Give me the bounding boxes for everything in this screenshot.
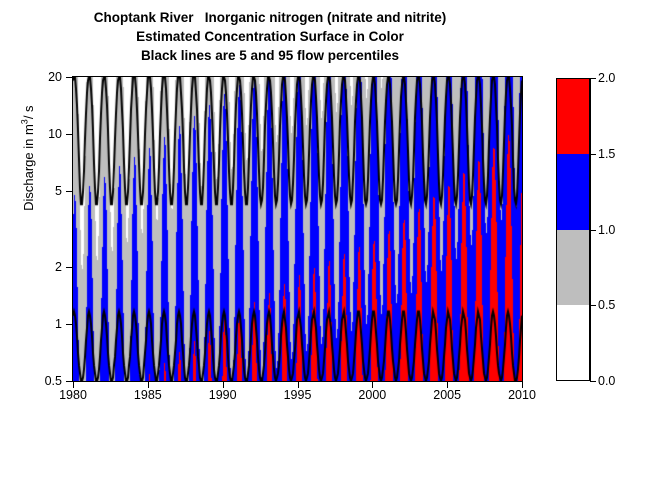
chart-title-line-3: Black lines are 5 and 95 flow percentile… xyxy=(0,46,540,65)
surface-canvas xyxy=(73,77,522,381)
color-legend-tick-mark xyxy=(590,78,596,79)
color-legend xyxy=(556,78,590,381)
x-tick-label: 2000 xyxy=(358,388,386,402)
y-tick-label: 0.5 xyxy=(45,374,62,388)
color-legend-band xyxy=(557,154,589,229)
color-legend-tick-mark xyxy=(590,230,596,231)
y-tick-label: 1 xyxy=(55,317,62,331)
color-legend-tick-label: 2.0 xyxy=(598,71,615,85)
color-legend-tick-label: 0.0 xyxy=(598,374,615,388)
color-legend-tick-label: 1.0 xyxy=(598,223,615,237)
color-legend-tick-mark xyxy=(590,305,596,306)
x-tick-label: 1985 xyxy=(134,388,162,402)
y-tick-label: 2 xyxy=(55,260,62,274)
x-tick-label: 1980 xyxy=(59,388,87,402)
y-axis-label-tail: / s xyxy=(21,105,36,119)
color-legend-tick-label: 0.5 xyxy=(598,298,615,312)
y-tick-label: 20 xyxy=(48,70,62,84)
chart-page: Choptank River Inorganic nitrogen (nitra… xyxy=(0,0,672,480)
color-legend-band xyxy=(557,305,589,380)
color-legend-tick-mark xyxy=(590,381,596,382)
chart-title-block: Choptank River Inorganic nitrogen (nitra… xyxy=(0,8,540,65)
color-legend-band xyxy=(557,230,589,305)
y-tick-label: 10 xyxy=(48,127,62,141)
x-tick-label: 1995 xyxy=(284,388,312,402)
y-axis-label: Discharge in m3/ s xyxy=(20,105,36,210)
color-legend-tick-label: 1.5 xyxy=(598,147,615,161)
color-legend-tick-mark xyxy=(590,154,596,155)
color-legend-band xyxy=(557,79,589,154)
x-tick-label: 1990 xyxy=(209,388,237,402)
chart-title-line-1: Choptank River Inorganic nitrogen (nitra… xyxy=(0,8,540,27)
x-tick-label: 2005 xyxy=(433,388,461,402)
x-tick-label: 2010 xyxy=(508,388,536,402)
y-tick-label: 5 xyxy=(55,184,62,198)
chart-title-line-2: Estimated Concentration Surface in Color xyxy=(0,27,540,46)
y-axis-label-text: Discharge in m xyxy=(21,124,36,211)
concentration-surface-plot xyxy=(72,76,523,382)
y-axis-label-exponent: 3 xyxy=(20,119,30,124)
